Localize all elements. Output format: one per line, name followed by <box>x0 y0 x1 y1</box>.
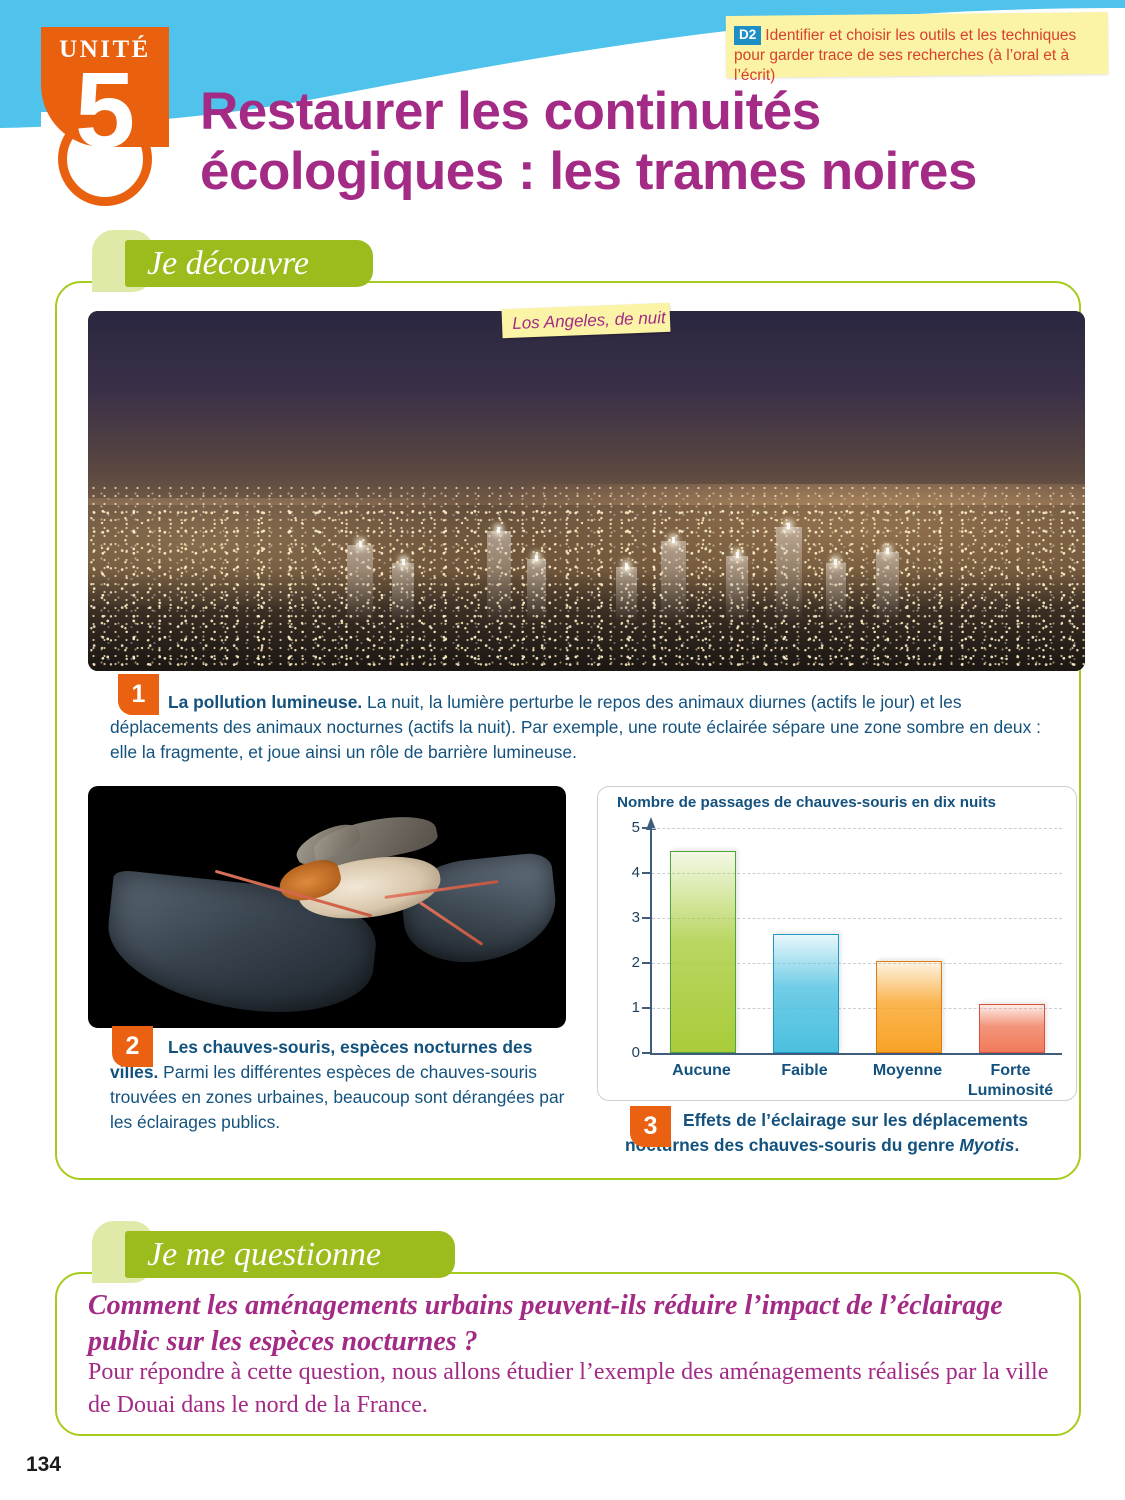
page-number: 134 <box>26 1453 61 1477</box>
chart-y-tick <box>642 1052 652 1054</box>
los-angeles-night-photo <box>88 311 1085 671</box>
figure-caption-2-text: Parmi les différentes espèces de chauves… <box>110 1062 564 1132</box>
figure-caption-2: Les chauves-souris, espèces nocturnes de… <box>110 1035 570 1135</box>
chart-y-tick <box>642 917 652 919</box>
chart-x-tick-label: Faible <box>753 1061 856 1081</box>
figure-caption-3-end: . <box>1014 1135 1019 1155</box>
figure-number-3: 3 <box>630 1106 671 1147</box>
chart-bar <box>670 851 736 1053</box>
competency-description: Identifier et choisir les outils et les … <box>734 27 1076 84</box>
photo-tower <box>487 531 511 621</box>
chart-x-tick-label: Moyenne <box>856 1061 959 1081</box>
chart-plot-area: 012345AucuneFaibleMoyenneForteLuminosité <box>650 828 1062 1053</box>
chart-y-tick-label: 3 <box>616 910 640 925</box>
photo-tower <box>527 559 546 620</box>
chart-gridline <box>652 828 1062 829</box>
chart-y-tick-label: 4 <box>616 865 640 880</box>
page-title-line1: Restaurer les continuités <box>200 82 1080 142</box>
figure-caption-3: Effets de l’éclairage sur les déplacemen… <box>625 1108 1075 1158</box>
section-tab-decouvre-label: Je découvre <box>147 240 309 287</box>
textbook-page: UNITÉ 5 D2Identifier et choisir les outi… <box>0 0 1125 1500</box>
photo-tower <box>876 552 899 620</box>
photo-city-light-dots <box>88 484 1085 671</box>
page-title: Restaurer les continuités écologiques : … <box>200 82 1080 202</box>
photo-tower <box>726 556 748 621</box>
chart-y-tick-label: 0 <box>616 1045 640 1060</box>
competency-badge: D2 <box>734 26 761 45</box>
figure-caption-3-genus: Myotis <box>959 1135 1014 1155</box>
figure-number-1: 1 <box>118 674 159 715</box>
chart-y-tick-label: 5 <box>616 820 640 835</box>
section-tab-questionne-label: Je me questionne <box>147 1231 381 1278</box>
chart-y-tick <box>642 827 652 829</box>
chart-bar <box>979 1004 1045 1053</box>
photo-tower <box>616 567 637 621</box>
chart-x-axis <box>650 1053 1062 1055</box>
photo-tower <box>776 527 802 621</box>
page-title-line2: écologiques : les trames noires <box>200 142 1080 202</box>
chart-x-tick-label: Forte <box>959 1061 1062 1081</box>
unit-number: 5 <box>41 56 169 164</box>
figure-number-2: 2 <box>112 1026 153 1067</box>
chart-title: Nombre de passages de chauves-souris en … <box>617 793 1067 813</box>
question-main-text: Comment les aménagements urbains peuvent… <box>88 1288 1063 1360</box>
bat-photo <box>88 786 566 1028</box>
figure-caption-1-lead: La pollution lumineuse. <box>168 692 362 712</box>
figure-caption-1: La pollution lumineuse. La nuit, la lumi… <box>110 690 1060 765</box>
chart-y-tick <box>642 1007 652 1009</box>
chart-x-tick-label: Aucune <box>650 1061 753 1081</box>
question-sub-text: Pour répondre à cette question, nous all… <box>88 1356 1063 1422</box>
chart-x-axis-label: Luminosité <box>959 1081 1062 1101</box>
competency-text-block: D2Identifier et choisir les outils et le… <box>734 26 1104 86</box>
photo-tower <box>826 563 846 621</box>
chart-y-tick-label: 1 <box>616 1000 640 1015</box>
photo-tower <box>661 541 686 620</box>
photo-tower <box>347 545 373 621</box>
chart-y-axis <box>650 828 652 1053</box>
chart-bar <box>876 961 942 1053</box>
photo-tower <box>392 563 414 621</box>
chart-y-tick <box>642 872 652 874</box>
chart-y-tick-label: 2 <box>616 955 640 970</box>
chart-y-tick <box>642 962 652 964</box>
chart-bar <box>773 934 839 1053</box>
